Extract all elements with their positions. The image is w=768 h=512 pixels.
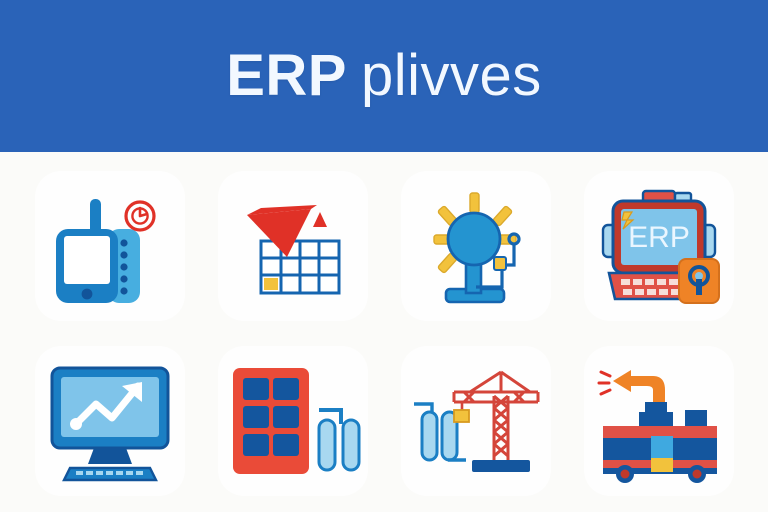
arrow-over-grid-icon (227, 181, 359, 311)
monitor-growth-chart-icon (44, 356, 176, 486)
page-title: ERPplivves (226, 47, 542, 105)
icon-cell-arrow-over-grid[interactable] (201, 158, 384, 333)
tower-crane-icon (410, 356, 542, 486)
page-title-bold: ERP (226, 43, 347, 108)
erp-poster: ERPplivves (0, 0, 768, 512)
icon-cell-tower-crane[interactable] (384, 333, 567, 508)
header-band: ERPplivves (0, 0, 768, 152)
icon-cell-handheld-terminal[interactable] (18, 158, 201, 333)
icon-cell-robotic-arm-machine[interactable] (567, 333, 750, 508)
robotic-arm-machine-icon (593, 356, 725, 486)
laptop-with-lock-icon: ERP (593, 181, 725, 311)
laptop-screen-label: ERP (628, 221, 690, 254)
icon-board: ERP (0, 152, 768, 512)
page-title-light: plivves (361, 43, 542, 108)
icon-cell-lamp-with-rays[interactable] (384, 158, 567, 333)
icon-cell-monitor-growth-chart[interactable] (18, 333, 201, 508)
lamp-with-rays-icon (410, 181, 542, 311)
icon-cell-laptop-with-lock[interactable]: ERP (567, 158, 750, 333)
icon-grid: ERP (18, 158, 750, 508)
panel-with-tanks-icon (227, 356, 359, 486)
icon-cell-panel-with-tanks[interactable] (201, 333, 384, 508)
handheld-terminal-icon (44, 181, 176, 311)
